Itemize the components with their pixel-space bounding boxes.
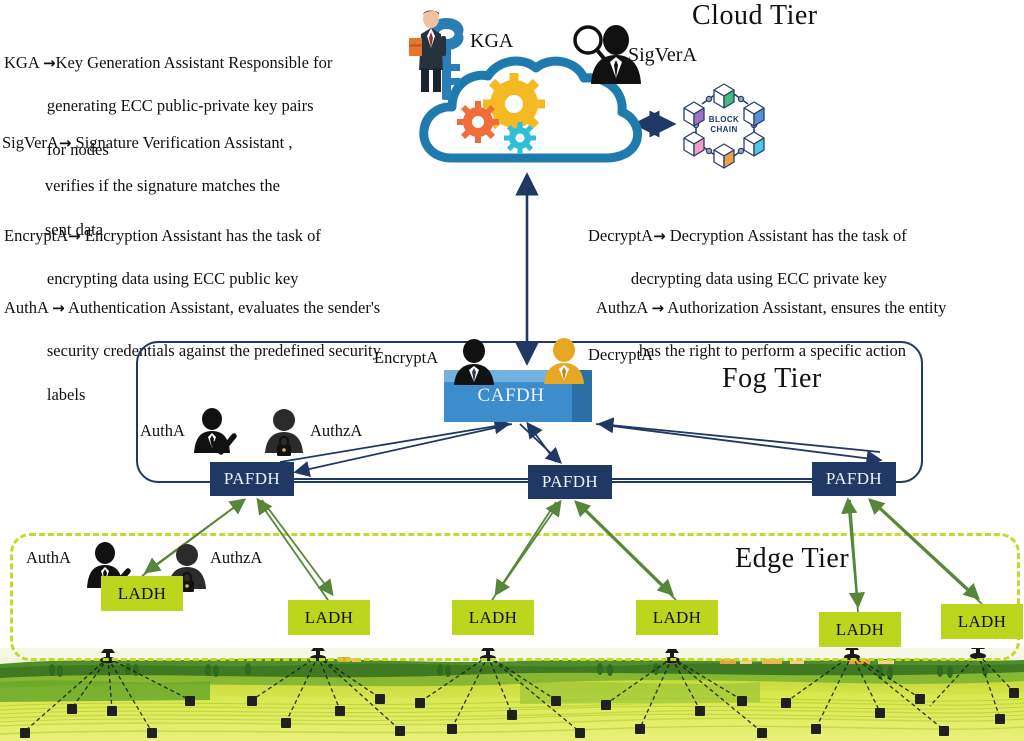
pafdh-center-to-ladh3 <box>496 502 556 594</box>
pafdh-right-to-cafdh <box>600 424 880 452</box>
fog-authza-icon <box>263 408 305 458</box>
pafdh-right-to-ladh6 <box>872 500 978 598</box>
ladh-node-5[interactable]: LADH <box>819 612 901 647</box>
ladh-node-6[interactable]: LADH <box>941 604 1023 639</box>
pafdh-node-left[interactable]: PAFDH <box>210 462 294 496</box>
encrypta-person-icon <box>452 339 496 385</box>
sigvera-label: SigVerA <box>628 44 697 67</box>
diagram-canvas: KGA →Key Generation Assistant Responsibl… <box>0 0 1024 741</box>
edge-authza-label: AuthzA <box>210 548 262 568</box>
cafdh-to-pafdh-center <box>520 424 560 462</box>
decrypta-label: DecryptA <box>588 345 653 365</box>
blockchain-icon: BLOCK CHAIN <box>672 82 776 168</box>
ladh6-to-pafdh-right <box>870 500 982 604</box>
fog-authza-label: AuthzA <box>310 421 362 441</box>
pafdh-center-to-cafdh <box>528 424 556 462</box>
ladh-node-2[interactable]: LADH <box>288 600 370 635</box>
ladh-node-1[interactable]: LADH <box>101 576 183 611</box>
decrypta-person-icon <box>542 338 586 384</box>
kga-label: KGA <box>470 30 513 53</box>
edge-autha-label: AuthA <box>26 548 71 568</box>
businessman-icon <box>408 8 454 94</box>
pafdh-center-to-ladh4 <box>578 502 672 594</box>
ladh2-to-pafdh-left <box>258 500 328 600</box>
pafdh-left-to-ladh2 <box>262 500 332 594</box>
cafdh-to-pafdh-right <box>596 424 880 460</box>
pafdh-node-right[interactable]: PAFDH <box>812 462 896 496</box>
pafdh-right-to-ladh5 <box>850 500 858 606</box>
encrypta-label: EncryptA <box>374 348 438 368</box>
ladh4-to-pafdh-center <box>576 502 676 600</box>
fog-autha-label: AuthA <box>140 421 185 441</box>
ladh-node-3[interactable]: LADH <box>452 600 534 635</box>
ladh-node-4[interactable]: LADH <box>636 600 718 635</box>
pafdh-node-center[interactable]: PAFDH <box>528 465 612 499</box>
fog-autha-icon <box>192 408 236 458</box>
